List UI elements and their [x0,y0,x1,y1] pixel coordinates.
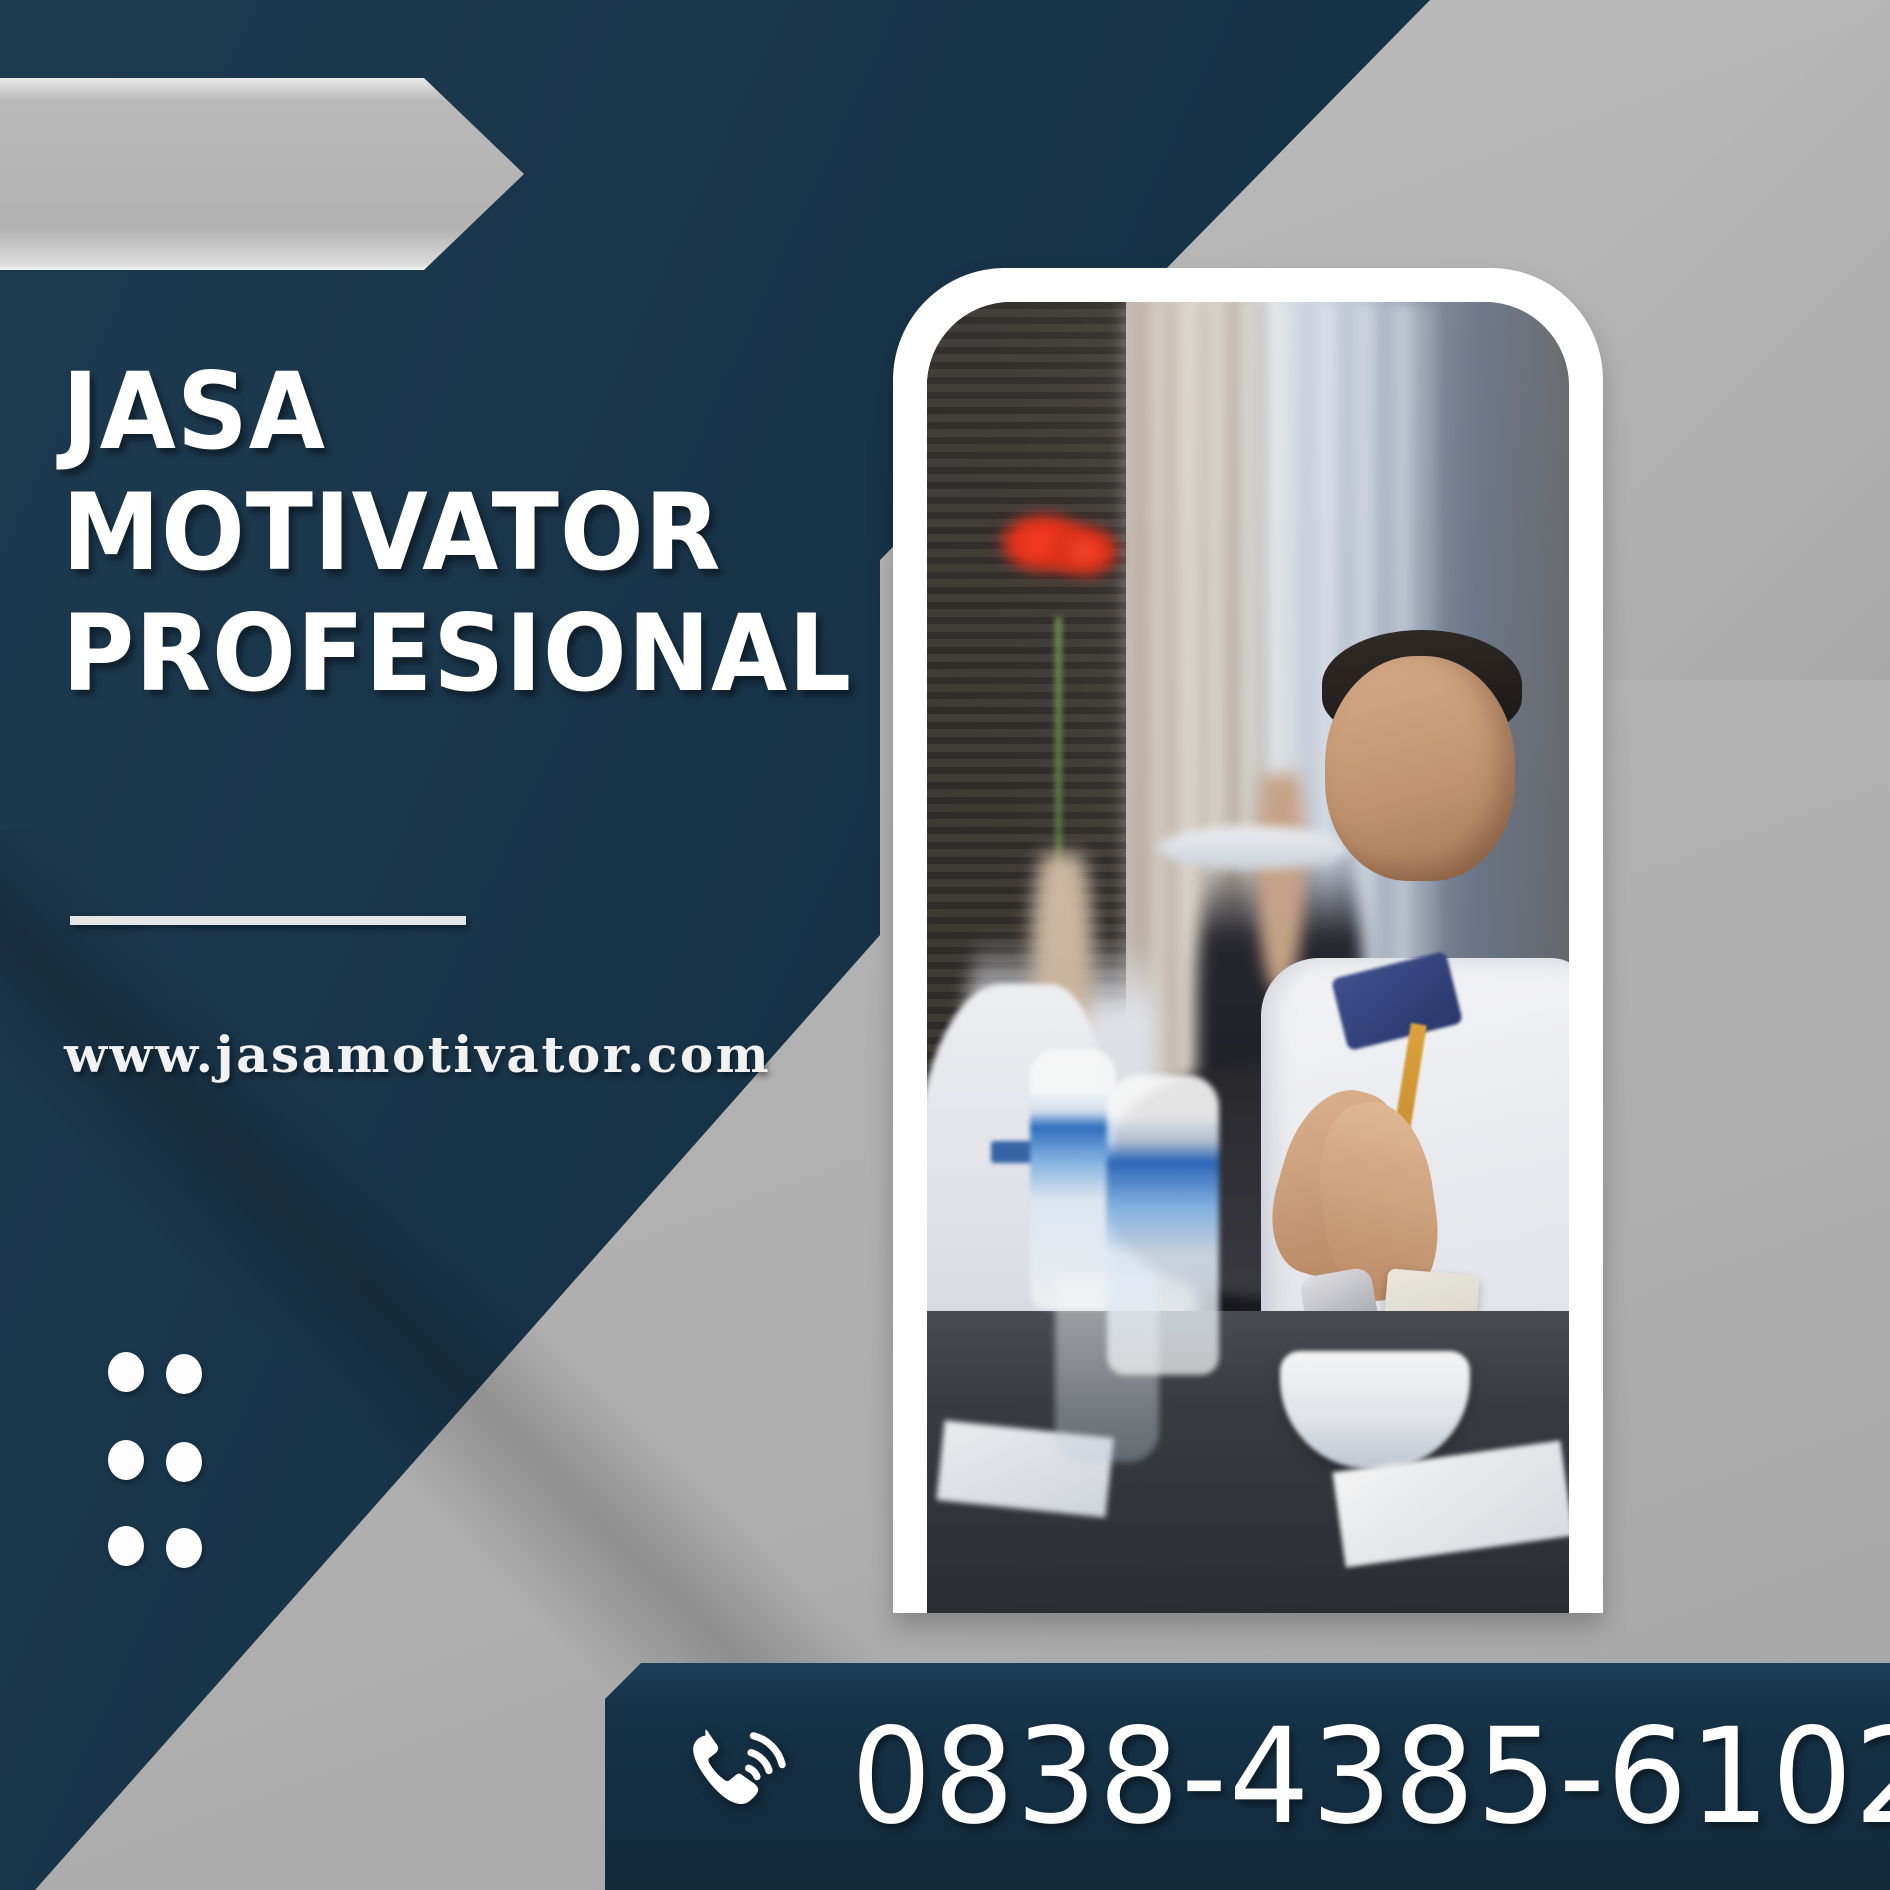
headline-line-2: MOTIVATOR [62,473,732,594]
contact-bar: 0838-4385-6102 [605,1663,1890,1890]
title-divider [70,916,466,925]
arrow-banner-shape [0,78,524,270]
dot [166,1442,202,1482]
phone-number[interactable]: 0838-4385-6102 [851,1700,1890,1854]
photo-card [893,268,1603,1613]
dot [108,1526,144,1566]
headline-line-1: JASA [62,352,732,473]
photo-overlay [927,302,1569,1613]
headline-line-3: PROFESIONAL [62,594,732,715]
dot [108,1440,144,1480]
dot [108,1352,144,1392]
dot-grid-decoration [108,1352,218,1567]
poster-canvas: JASA MOTIVATOR PROFESIONAL www.jasamotiv… [0,0,1890,1890]
dot [166,1354,202,1394]
page-title: JASA MOTIVATOR PROFESIONAL [62,352,732,714]
phone-ringing-icon [679,1719,799,1839]
seminar-photo [927,302,1569,1613]
website-url[interactable]: www.jasamotivator.com [64,1025,771,1084]
dot [166,1528,202,1568]
